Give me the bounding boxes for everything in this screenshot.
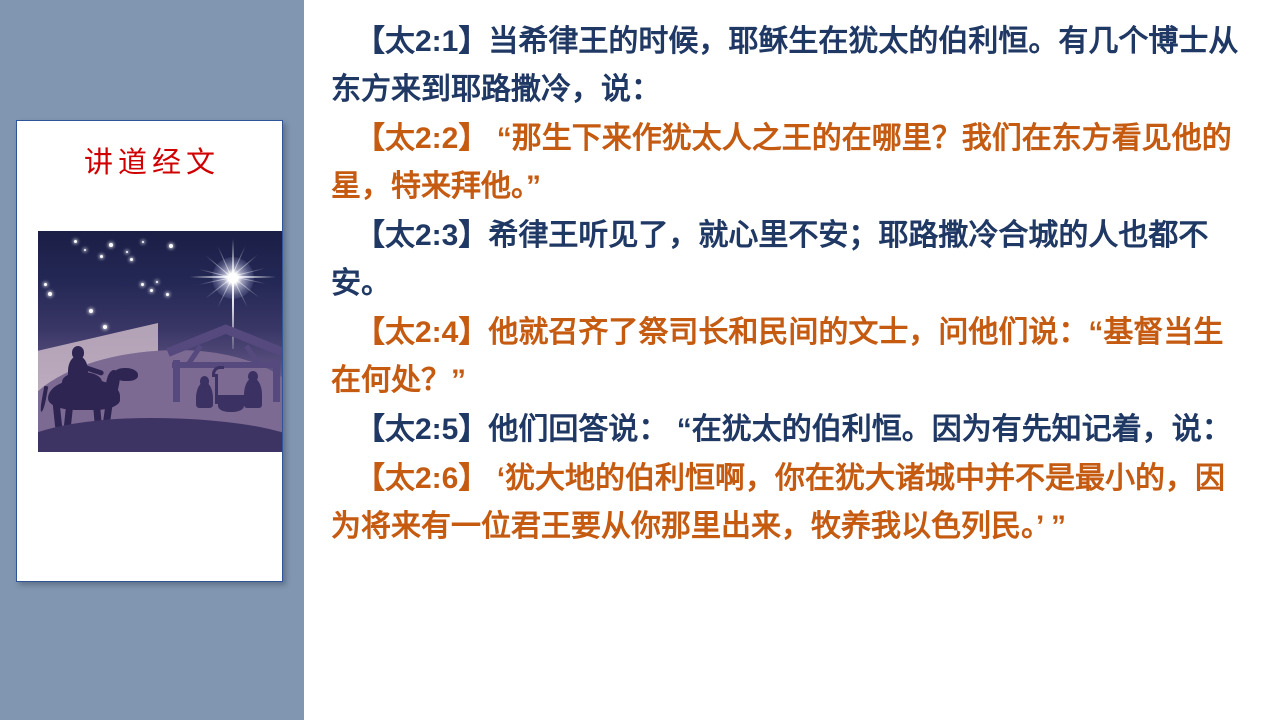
scripture-text-body: 【太2:1】当希律王的时候，耶稣生在犹太的伯利恒。有几个博士从东方来到耶路撒冷，… [331, 18, 1253, 708]
star-dot [84, 249, 86, 251]
star-dot [44, 283, 47, 286]
verse-paragraph: 【太2:6】 ‘犹大地的伯利恒啊，你在犹大诸城中并不是最小的，因为将来有一位君王… [331, 455, 1253, 551]
star-glow [212, 257, 254, 299]
verse-paragraph: 【太2:5】他们回答说： “在犹太的伯利恒。因为有先知记着，说： [331, 406, 1253, 454]
verse-paragraph: 【太2:1】当希律王的时候，耶稣生在犹太的伯利恒。有几个博士从东方来到耶路撒冷，… [331, 18, 1253, 114]
star-dot [109, 243, 113, 247]
star-dot [169, 244, 173, 248]
scripture-title-card: 讲道经文 [16, 120, 283, 582]
star-dot [166, 293, 169, 296]
rider-head [72, 346, 84, 359]
manger [218, 398, 244, 412]
verse-paragraph: 【太2:2】 “那生下来作犹太人之王的在哪里？我们在东方看见他的星，特来拜他。” [331, 115, 1253, 211]
star-dot [103, 325, 107, 329]
star-dot [89, 309, 93, 313]
star-dot [130, 258, 133, 261]
camel-head [114, 368, 138, 381]
star-dot [142, 241, 144, 243]
card-title: 讲道经文 [17, 149, 282, 178]
nativity-scene-image [38, 231, 282, 452]
star-dot [126, 251, 128, 253]
star-dot [74, 240, 77, 243]
star-dot [156, 281, 158, 283]
verse-paragraph: 【太2:4】他就召齐了祭司长和民间的文士，问他们说：“基督当生在何处？” [331, 309, 1253, 405]
star-dot [48, 292, 52, 296]
star-dot [141, 283, 144, 286]
figure-joseph-head [200, 376, 209, 386]
shepherd-staff-hook [212, 366, 224, 377]
slide-canvas: 讲道经文 [0, 0, 1280, 720]
star-dot [150, 289, 153, 292]
star-dot [100, 255, 103, 258]
stable-post-left [173, 360, 180, 402]
stable-post-right [273, 360, 280, 402]
verse-paragraph: 【太2:3】希律王听见了，就心里不安；耶路撒冷合城的人也都不安。 [331, 212, 1253, 308]
figure-mary-head [248, 371, 258, 382]
figure-mary-body [244, 378, 262, 408]
